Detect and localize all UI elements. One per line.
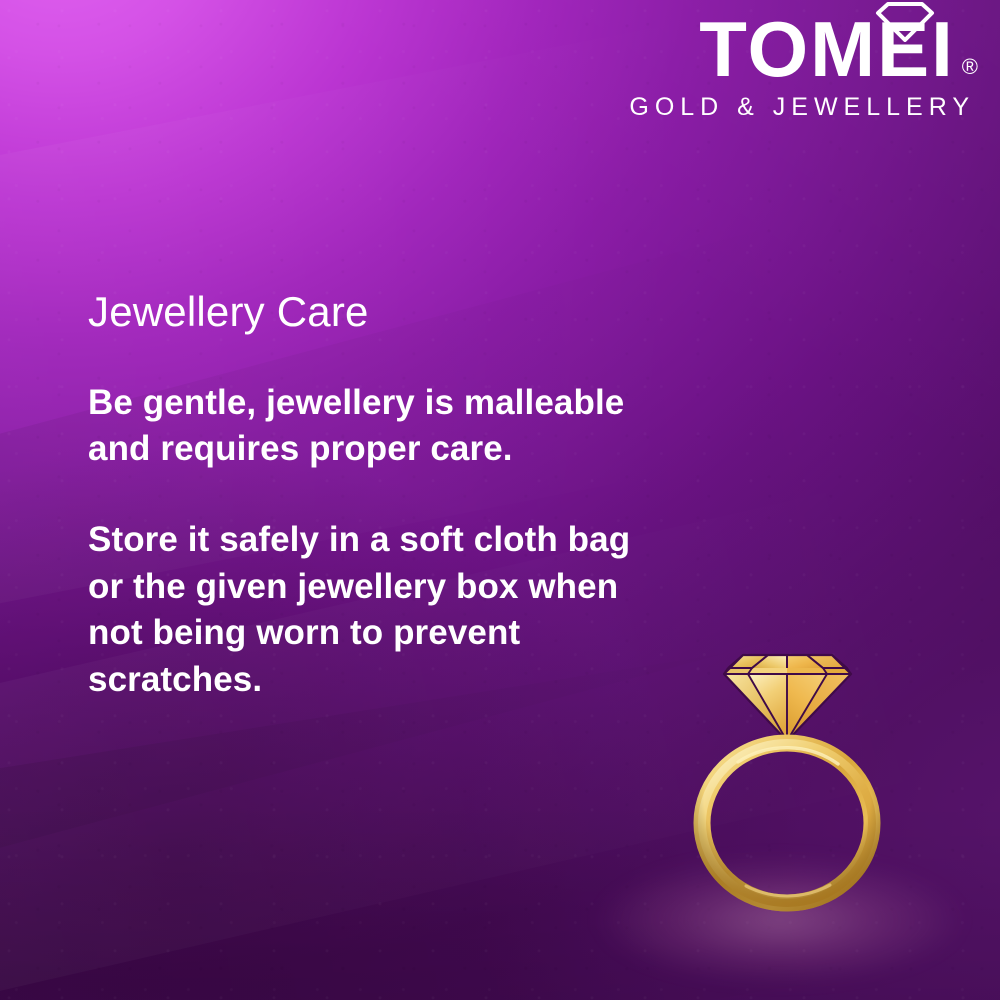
brand-logo: TOMEI ® GOLD & JEWELLERY — [629, 14, 978, 120]
ring-band-icon — [702, 743, 872, 903]
poster-canvas: TOMEI ® GOLD & JEWELLERY Jewellery Care … — [0, 0, 1000, 1000]
brand-wordmark-row: TOMEI ® — [629, 14, 978, 86]
registered-trademark-icon: ® — [962, 56, 978, 78]
copy-block: Jewellery Care Be gentle, jewellery is m… — [88, 288, 668, 703]
diamond-gem-icon — [724, 655, 851, 741]
care-paragraph-2: Store it safely in a soft cloth bag or t… — [88, 517, 668, 703]
diamond-outline-icon — [874, 2, 936, 42]
gold-diamond-ring-illustration — [690, 638, 885, 913]
brand-tagline: GOLD & JEWELLERY — [629, 95, 978, 120]
page-title: Jewellery Care — [88, 288, 668, 336]
care-paragraph-1: Be gentle, jewellery is malleable and re… — [88, 380, 668, 473]
